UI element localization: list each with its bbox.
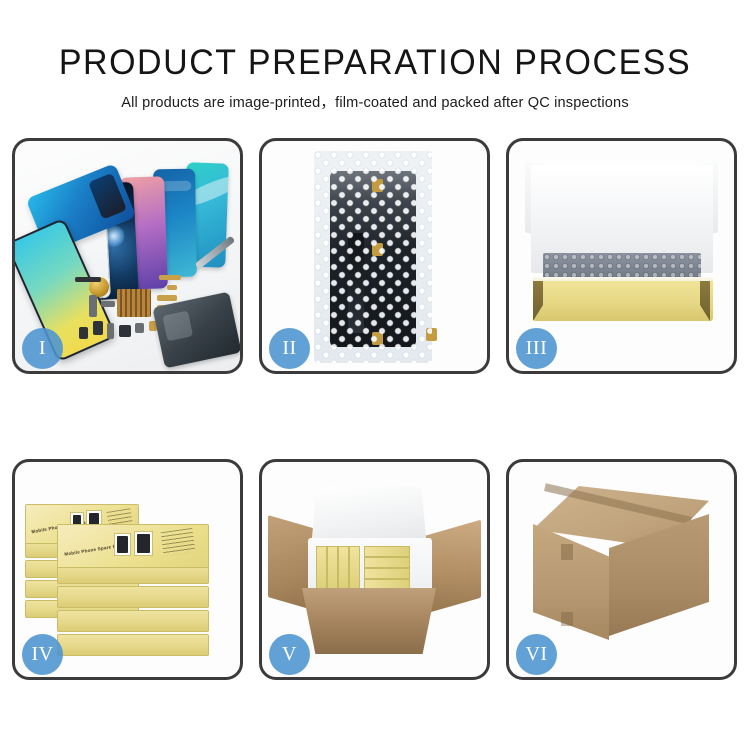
step-badge-3: III bbox=[516, 328, 557, 369]
carton-seam-lower bbox=[561, 612, 573, 626]
step-panel-sealed-shipping-carton[interactable]: VI bbox=[506, 459, 737, 680]
yellow-box-body bbox=[533, 281, 713, 321]
packed-yellow-boxes bbox=[316, 546, 424, 588]
bubble-texture bbox=[314, 151, 432, 363]
step-badge-6: VI bbox=[516, 634, 557, 675]
step-badge-2: II bbox=[269, 328, 310, 369]
step-panel-stacked-retail-boxes[interactable]: Mobile Phone Spare Parts M bbox=[12, 459, 243, 680]
step-badge-1: I bbox=[22, 328, 63, 369]
retail-box-stack: Mobile Phone Spare Parts M bbox=[25, 488, 231, 660]
step-panel-foam-lined-inner-box[interactable]: III bbox=[506, 138, 737, 374]
step-panel-phone-screens-and-parts[interactable]: I bbox=[12, 138, 243, 374]
step-panel-carton-with-foam-insert[interactable]: V bbox=[259, 459, 490, 680]
step-badge-4: IV bbox=[22, 634, 63, 675]
step-badge-5: V bbox=[269, 634, 310, 675]
product-preparation-process-page: PRODUCT PREPARATION PROCESS All products… bbox=[0, 0, 750, 750]
carton-body bbox=[302, 588, 436, 654]
process-step-grid: I II bbox=[12, 138, 738, 680]
bubble-wrap-bag bbox=[314, 151, 432, 363]
page-title: PRODUCT PREPARATION PROCESS bbox=[11, 0, 739, 83]
step-panel-bubble-wrapped-screen[interactable]: II bbox=[259, 138, 490, 374]
carton-seam-upper bbox=[561, 544, 573, 560]
page-header: PRODUCT PREPARATION PROCESS All products… bbox=[0, 0, 750, 130]
page-subtitle: All products are image-printed，film-coat… bbox=[0, 83, 750, 112]
